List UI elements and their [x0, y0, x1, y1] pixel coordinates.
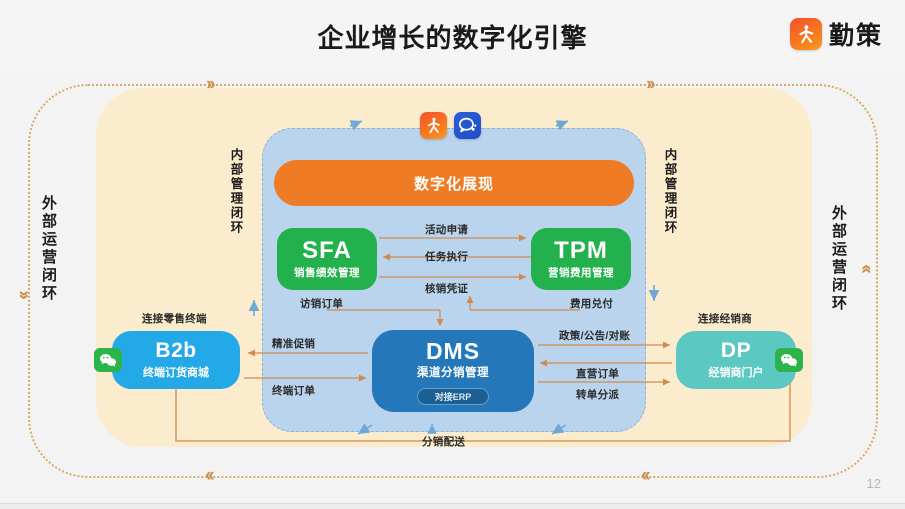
label-sfa-tpm-3: 核销凭证 — [425, 281, 468, 296]
node-tpm-subtitle: 营销费用管理 — [548, 265, 614, 280]
node-b2b-acronym: B2b — [155, 340, 196, 362]
label-dms-b2b-2: 终端订单 — [272, 383, 315, 398]
slide-header: 企业增长的数字化引擎 勤策 — [0, 0, 905, 72]
brand-name: 勤策 — [829, 16, 883, 52]
slide-canvas: 企业增长的数字化引擎 勤策 ›› ›› ‹‹ ‹‹ ‹‹ ‹‹ — [0, 0, 905, 509]
node-dp-acronym: DP — [721, 340, 751, 362]
qince-app-icon[interactable] — [420, 112, 447, 139]
app-icon-group — [420, 112, 481, 139]
node-sfa-subtitle: 销售绩效管理 — [294, 265, 360, 280]
ring-chevron-left-bottom-1: ‹‹ — [205, 466, 212, 485]
ring-chevron-left-bottom-2: ‹‹ — [641, 466, 648, 485]
ring-chevron-up-left: ‹‹ — [14, 293, 33, 300]
node-b2b[interactable]: B2b 终端订货商城 — [112, 331, 240, 389]
label-dms-dp-3: 转单分派 — [576, 387, 619, 402]
node-b2b-caption: 连接零售终端 — [142, 311, 207, 326]
node-sfa[interactable]: SFA 销售绩效管理 — [277, 228, 377, 290]
label-dms-dp-2: 直营订单 — [576, 366, 619, 381]
digital-display-banner[interactable]: 数字化展现 — [274, 160, 634, 206]
node-dms-acronym: DMS — [426, 339, 480, 363]
label-dms-b2b-1: 精准促销 — [272, 336, 315, 351]
node-tpm[interactable]: TPM 营销费用管理 — [531, 228, 631, 290]
page-title: 企业增长的数字化引擎 — [0, 18, 905, 55]
ring-chevron-down-right: ‹‹ — [857, 264, 876, 271]
qince-logo-icon — [790, 18, 822, 50]
brand-lockup: 勤策 — [790, 16, 883, 52]
label-internal-loop-right: 内部管理闭环 — [663, 148, 676, 235]
label-tpm-dms: 费用兑付 — [570, 296, 613, 311]
node-sfa-acronym: SFA — [302, 238, 352, 263]
label-bottom-distribution: 分销配送 — [422, 434, 465, 449]
footer-bar — [0, 503, 905, 509]
node-dms-subtitle: 渠道分销管理 — [417, 364, 489, 380]
node-dp-caption: 连接经销商 — [698, 311, 752, 326]
node-dp-subtitle: 经销商门户 — [709, 364, 764, 380]
node-b2b-subtitle: 终端订货商城 — [143, 364, 209, 380]
wecom-app-icon[interactable] — [454, 112, 481, 139]
wechat-icon — [94, 348, 122, 372]
label-dms-dp-1: 政策/公告/对账 — [559, 328, 630, 343]
label-sfa-tpm-2: 任务执行 — [425, 249, 468, 264]
node-tpm-acronym: TPM — [554, 238, 608, 263]
page-number: 12 — [867, 476, 881, 491]
label-external-loop-left: 外部运营闭环 — [41, 195, 56, 303]
label-external-loop-right: 外部运营闭环 — [831, 205, 846, 313]
label-sfa-dms: 访销订单 — [300, 296, 343, 311]
label-internal-loop-left: 内部管理闭环 — [229, 148, 242, 235]
wechat-icon — [775, 348, 803, 372]
node-dms-erp-badge: 对接ERP — [417, 388, 489, 405]
label-sfa-tpm-1: 活动申请 — [425, 222, 468, 237]
